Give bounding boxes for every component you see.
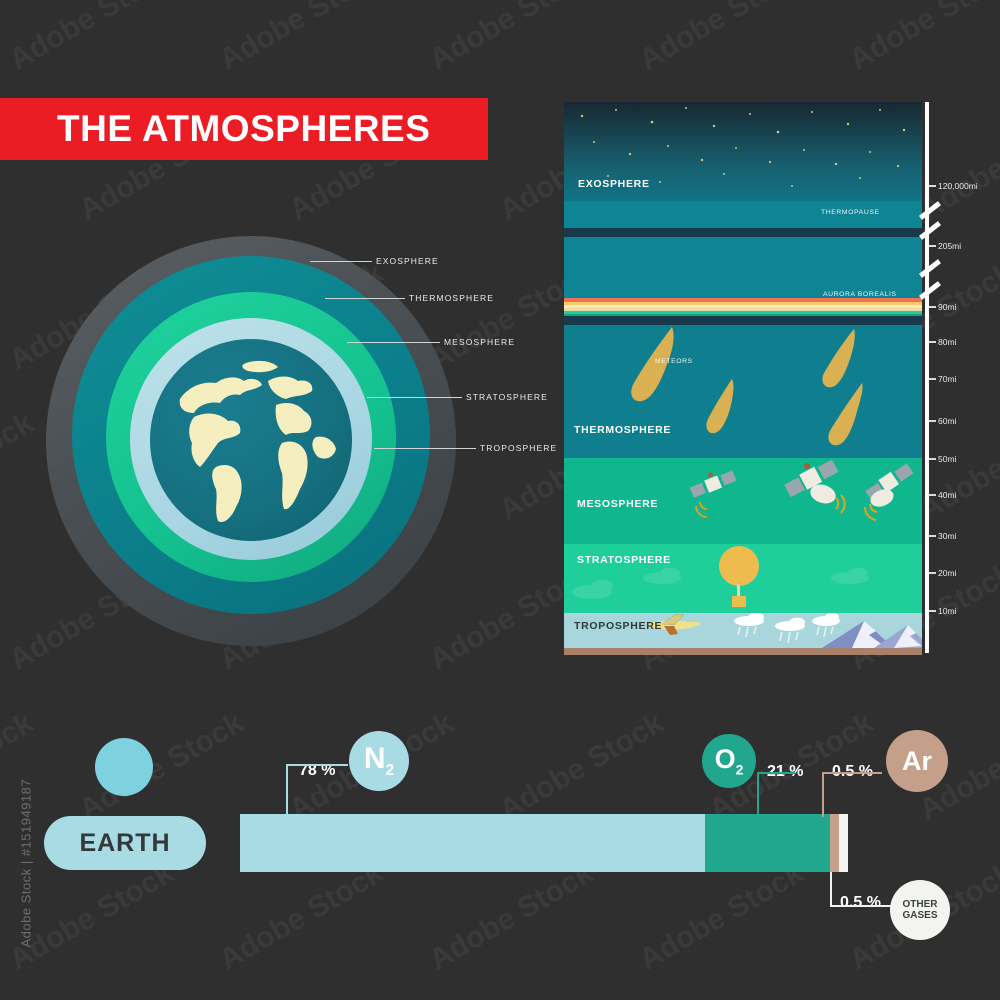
altitude-tick-label: 60mi [938, 416, 956, 426]
watermark-text: Adobe Stock [424, 0, 600, 78]
connector-line-o2 [757, 772, 759, 817]
watermark-text: Adobe Stock [634, 0, 810, 78]
leader-line [374, 448, 476, 449]
band-thermosphere [564, 325, 922, 458]
layer-label-aurora: AURORA BOREALIS [823, 291, 897, 298]
scale-break-icon [919, 201, 941, 220]
gas-bubble-o2: O2 [702, 734, 756, 788]
altitude-tick-label: 20mi [938, 568, 956, 578]
connector-line-other [830, 905, 892, 907]
connector-line-ar [822, 772, 824, 817]
watermark-text: Adobe Stock [634, 856, 810, 977]
altitude-tick [929, 306, 936, 308]
gas-subscript: 2 [385, 762, 394, 779]
leader-line [325, 298, 405, 299]
gas-symbol: N2 [364, 742, 394, 780]
leader-line [347, 342, 440, 343]
gas-symbol: Ar [902, 746, 932, 777]
watermark-text: Adobe Stock [0, 406, 40, 527]
earth-label-text: EARTH [79, 829, 170, 858]
meteors-icon [564, 325, 922, 458]
watermark-text: Adobe Stock [214, 0, 390, 78]
altitude-tick [929, 378, 936, 380]
band-thermosphere-upper [564, 237, 922, 298]
layer-label-meteors: METEORS [655, 358, 693, 365]
globe-earth [150, 339, 352, 541]
altitude-tick-label: 40mi [938, 490, 956, 500]
layer-label-mesosphere: MESOSPHERE [577, 498, 658, 510]
leader-line [367, 397, 462, 398]
band-ground [564, 648, 922, 655]
aurora-borealis-bands [564, 298, 922, 316]
watermark-text: Adobe Stock [844, 0, 1000, 78]
page-title: THE ATMOSPHERES [0, 108, 430, 150]
watermark-id-text: Adobe Stock | #151949187 [19, 748, 34, 948]
band-mesopause [564, 316, 922, 325]
layer-label-thermopause: THERMOPAUSE [821, 209, 880, 216]
ring-label-mesosphere: MESOSPHERE [444, 337, 515, 347]
bar-segment-o2 [705, 814, 830, 872]
continents-map [150, 339, 352, 541]
percent-label-other: 0.5 % [840, 894, 881, 912]
gas-composition-bar [240, 814, 848, 872]
connector-line-n2 [286, 764, 348, 766]
altitude-tick-label: 80mi [938, 337, 956, 347]
gas-symbol: O2 [715, 744, 744, 777]
connector-line-ar [822, 772, 882, 774]
ring-label-thermosphere: THERMOSPHERE [409, 293, 494, 303]
gas-bubble-label: OTHERGASES [902, 899, 937, 921]
altitude-tick [929, 494, 936, 496]
scale-break-icon [919, 281, 941, 300]
ring-label-troposphere: TROPOSPHERE [480, 443, 557, 453]
gas-bubble-ar: Ar [886, 730, 948, 792]
ring-label-stratosphere: STRATOSPHERE [466, 392, 548, 402]
altitude-tick [929, 341, 936, 343]
gas-bubble-n2: N2 [349, 731, 409, 791]
band-thermopause [564, 228, 922, 237]
altitude-tick-label: 205mi [938, 241, 961, 251]
scale-break-icon [919, 221, 941, 240]
earth-dot-marker [95, 738, 153, 796]
connector-line-n2 [286, 764, 288, 816]
watermark-text: Adobe Stock [494, 706, 670, 827]
gas-subscript: 2 [736, 762, 744, 778]
watermark-text: Adobe Stock [424, 856, 600, 977]
bar-segment-n2 [240, 814, 705, 872]
bar-segment-ar [830, 814, 839, 872]
altitude-tick [929, 572, 936, 574]
altitude-tick-label: 120,000mi [938, 181, 978, 191]
ring-label-exosphere: EXOSPHERE [376, 256, 439, 266]
connector-line-other [830, 872, 832, 906]
leader-line [310, 261, 372, 262]
earth-label-pill: EARTH [44, 816, 206, 870]
altitude-tick [929, 420, 936, 422]
altitude-tick-label: 70mi [938, 374, 956, 384]
infographic-canvas: Adobe StockAdobe StockAdobe StockAdobe S… [0, 0, 1000, 1000]
gas-bubble-other-gases: OTHERGASES [890, 880, 950, 940]
altitude-tick-label: 90mi [938, 302, 956, 312]
altitude-tick-label: 10mi [938, 606, 956, 616]
altitude-tick [929, 185, 936, 187]
watermark-text: Adobe Stock [4, 0, 180, 78]
layer-label-thermosphere: THERMOSPHERE [574, 424, 671, 436]
altitude-tick-label: 50mi [938, 454, 956, 464]
altitude-tick [929, 535, 936, 537]
altitude-tick-label: 30mi [938, 531, 956, 541]
title-banner: THE ATMOSPHERES [0, 98, 488, 160]
bar-segment-other [839, 814, 848, 872]
altitude-tick [929, 610, 936, 612]
altitude-tick [929, 458, 936, 460]
layer-label-troposphere: TROPOSPHERE [574, 620, 662, 632]
connector-line-o2 [757, 772, 795, 774]
layer-label-exosphere: EXOSPHERE [578, 178, 650, 190]
scale-break-icon [919, 259, 941, 278]
altitude-tick [929, 245, 936, 247]
watermark-text: Adobe Stock [214, 856, 390, 977]
layer-label-stratosphere: STRATOSPHERE [577, 554, 671, 566]
